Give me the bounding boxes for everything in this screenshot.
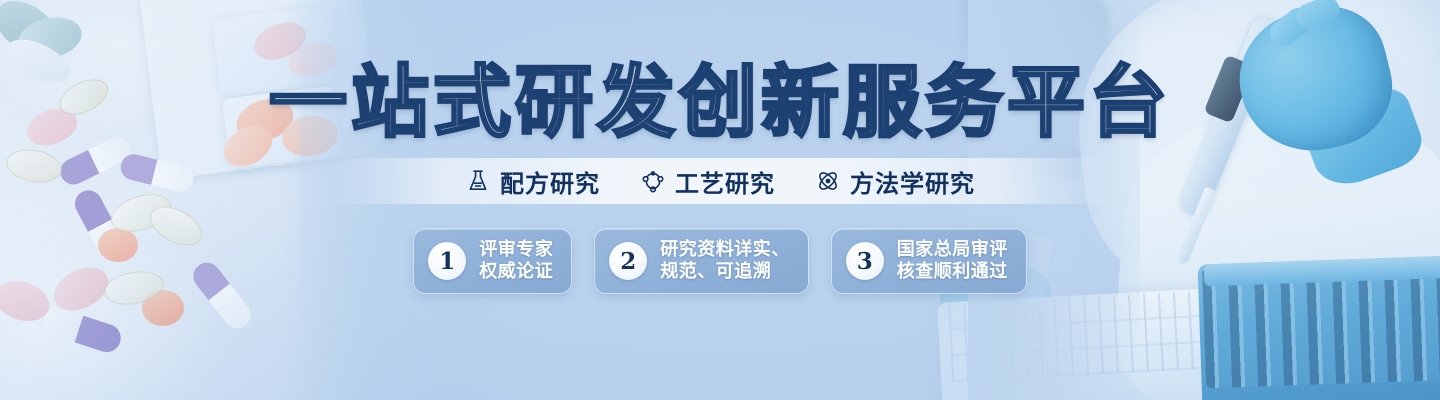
promo-banner: 一站式研发创新服务平台 配方研究	[0, 0, 1440, 400]
subtitle-items: 配方研究 工艺研究	[465, 164, 975, 199]
subtitle-band: 配方研究 工艺研究	[0, 158, 1440, 204]
card-number-badge: 3	[846, 242, 884, 280]
subtitle-item-formulation[interactable]: 配方研究	[465, 164, 600, 199]
card-text: 国家总局审评 核查顺利通过	[897, 239, 1008, 283]
subtitle-item-label: 工艺研究	[675, 164, 775, 199]
subtitle-item-label: 配方研究	[500, 164, 600, 199]
card-line-1: 国家总局审评	[897, 239, 1008, 261]
card-line-2: 核查顺利通过	[897, 261, 1008, 283]
molecule-icon	[640, 168, 666, 194]
card-line-1: 研究资料详实、	[660, 239, 790, 261]
subtitle-item-process[interactable]: 工艺研究	[640, 164, 775, 199]
card-number-badge: 1	[428, 242, 466, 280]
atom-icon	[815, 168, 841, 194]
card-text: 评审专家 权威论证	[479, 239, 553, 283]
feature-card-1[interactable]: 1 评审专家 权威论证	[413, 228, 572, 294]
feature-card-2[interactable]: 2 研究资料详实、 规范、可追溯	[594, 228, 809, 294]
card-line-2: 权威论证	[479, 261, 553, 283]
feature-cards: 1 评审专家 权威论证 2 研究资料详实、 规范、可追溯 3 国家总局审评 核查…	[413, 228, 1027, 294]
subtitle-item-methodology[interactable]: 方法学研究	[815, 164, 975, 199]
feature-card-3[interactable]: 3 国家总局审评 核查顺利通过	[831, 228, 1027, 294]
subtitle-item-label: 方法学研究	[850, 164, 975, 199]
flask-icon	[465, 168, 491, 194]
banner-title: 一站式研发创新服务平台	[269, 64, 1171, 142]
card-text: 研究资料详实、 规范、可追溯	[660, 239, 790, 283]
card-line-1: 评审专家	[479, 239, 553, 261]
banner-content: 一站式研发创新服务平台 配方研究	[0, 0, 1440, 400]
card-number-badge: 2	[609, 242, 647, 280]
card-line-2: 规范、可追溯	[660, 261, 790, 283]
